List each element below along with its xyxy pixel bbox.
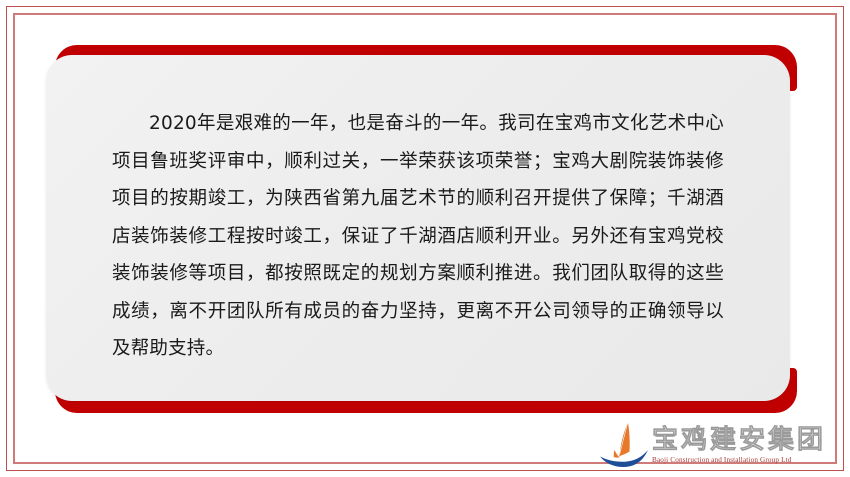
sail-boat-icon xyxy=(598,420,650,470)
logo-company-name-cn: 宝鸡建安集团 xyxy=(652,426,826,454)
logo-text-block: 宝鸡建安集团 Baoji Construction and Installati… xyxy=(652,426,826,465)
logo-company-name-en: Baoji Construction and Installation Grou… xyxy=(652,455,826,465)
slide-canvas: 2020年是艰难的一年，也是奋斗的一年。我司在宝鸡市文化艺术中心项目鲁班奖评审中… xyxy=(0,0,850,477)
company-logo: 宝鸡建安集团 Baoji Construction and Installati… xyxy=(598,416,846,474)
body-paragraph: 2020年是艰难的一年，也是奋斗的一年。我司在宝鸡市文化艺术中心项目鲁班奖评审中… xyxy=(112,105,724,368)
content-card: 2020年是艰难的一年，也是奋斗的一年。我司在宝鸡市文化艺术中心项目鲁班奖评审中… xyxy=(46,55,790,401)
